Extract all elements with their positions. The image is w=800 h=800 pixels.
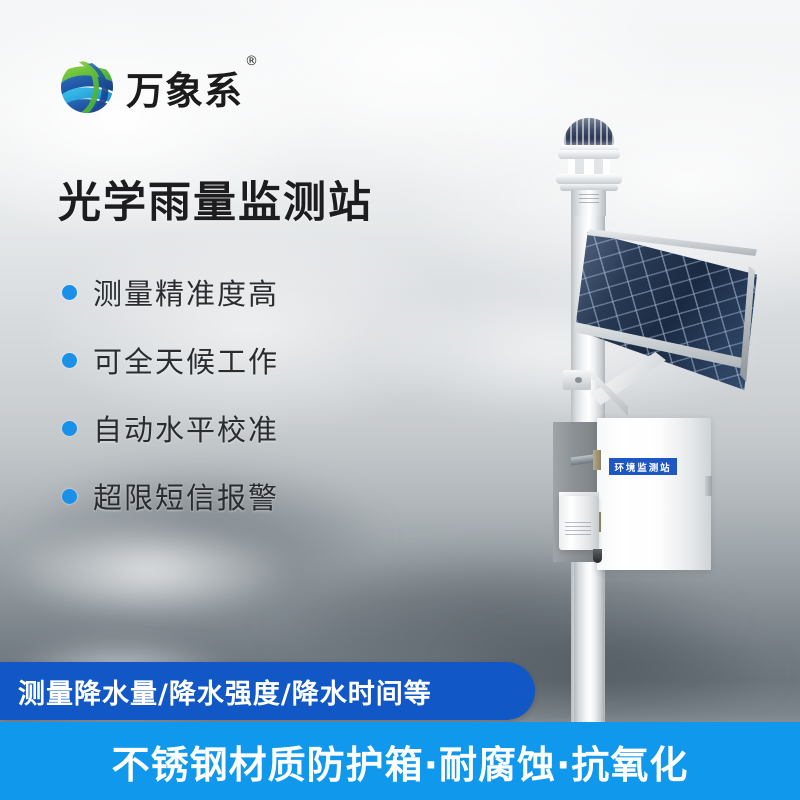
pill-banner: 测量降水量/降水强度/降水时间等 [0, 662, 535, 720]
enclosure-latch [705, 476, 712, 496]
enclosure-label-text: 环境监测站 [615, 459, 672, 473]
solar-panel [575, 218, 757, 390]
bullet-dot-icon [62, 421, 77, 436]
enclosure-door [597, 418, 711, 570]
list-item: 测量精准度高 [62, 258, 362, 326]
brand-name: 万象系 ® [126, 60, 243, 115]
page-title: 光学雨量监测站 [58, 168, 373, 230]
feature-label: 可全天候工作 [93, 339, 279, 381]
mounting-pole-lower [574, 560, 604, 725]
bullet-dot-icon [62, 353, 77, 368]
enclosure-hinge [593, 450, 601, 470]
brand-logo: 万象系 ® [58, 58, 243, 116]
brand-name-text: 万象系 [126, 69, 243, 113]
clamp-bolt [575, 377, 582, 383]
list-item: 超限短信报警 [62, 462, 362, 530]
bottom-bar-text: 不锈钢材质防护箱·耐腐蚀·抗氧化 [112, 734, 689, 789]
list-item: 自动水平校准 [62, 394, 362, 462]
feature-label: 超限短信报警 [93, 475, 279, 517]
sub-enclosure-vent [565, 522, 591, 538]
optical-rain-sensor [548, 118, 630, 214]
sensor-vent [579, 194, 599, 205]
swirl-globe-logo-icon [58, 58, 116, 116]
sensor-pillar-gap [568, 159, 610, 175]
registered-mark-icon: ® [245, 54, 259, 69]
bullet-dot-icon [62, 285, 77, 300]
enclosure-label: 环境监测站 [609, 458, 677, 475]
feature-label: 自动水平校准 [93, 407, 279, 449]
feature-list: 测量精准度高 可全天候工作 自动水平校准 超限短信报警 [62, 258, 362, 530]
list-item: 可全天候工作 [62, 326, 362, 394]
feature-label: 测量精准度高 [93, 271, 279, 313]
stainless-steel-enclosure: 环境监测站 [553, 418, 711, 570]
sensor-plate [556, 174, 622, 184]
pill-banner-text: 测量降水量/降水强度/降水时间等 [0, 672, 432, 711]
enclosure-cable-gland [593, 549, 602, 563]
bottom-bar: 不锈钢材质防护箱·耐腐蚀·抗氧化 [0, 722, 800, 800]
sensor-plate [558, 150, 620, 159]
product-poster: 万象系 ® 光学雨量监测站 测量精准度高 可全天候工作 自动水平校准 超限短信报… [0, 0, 800, 800]
sensor-dome [564, 118, 614, 147]
bullet-dot-icon [62, 489, 77, 504]
